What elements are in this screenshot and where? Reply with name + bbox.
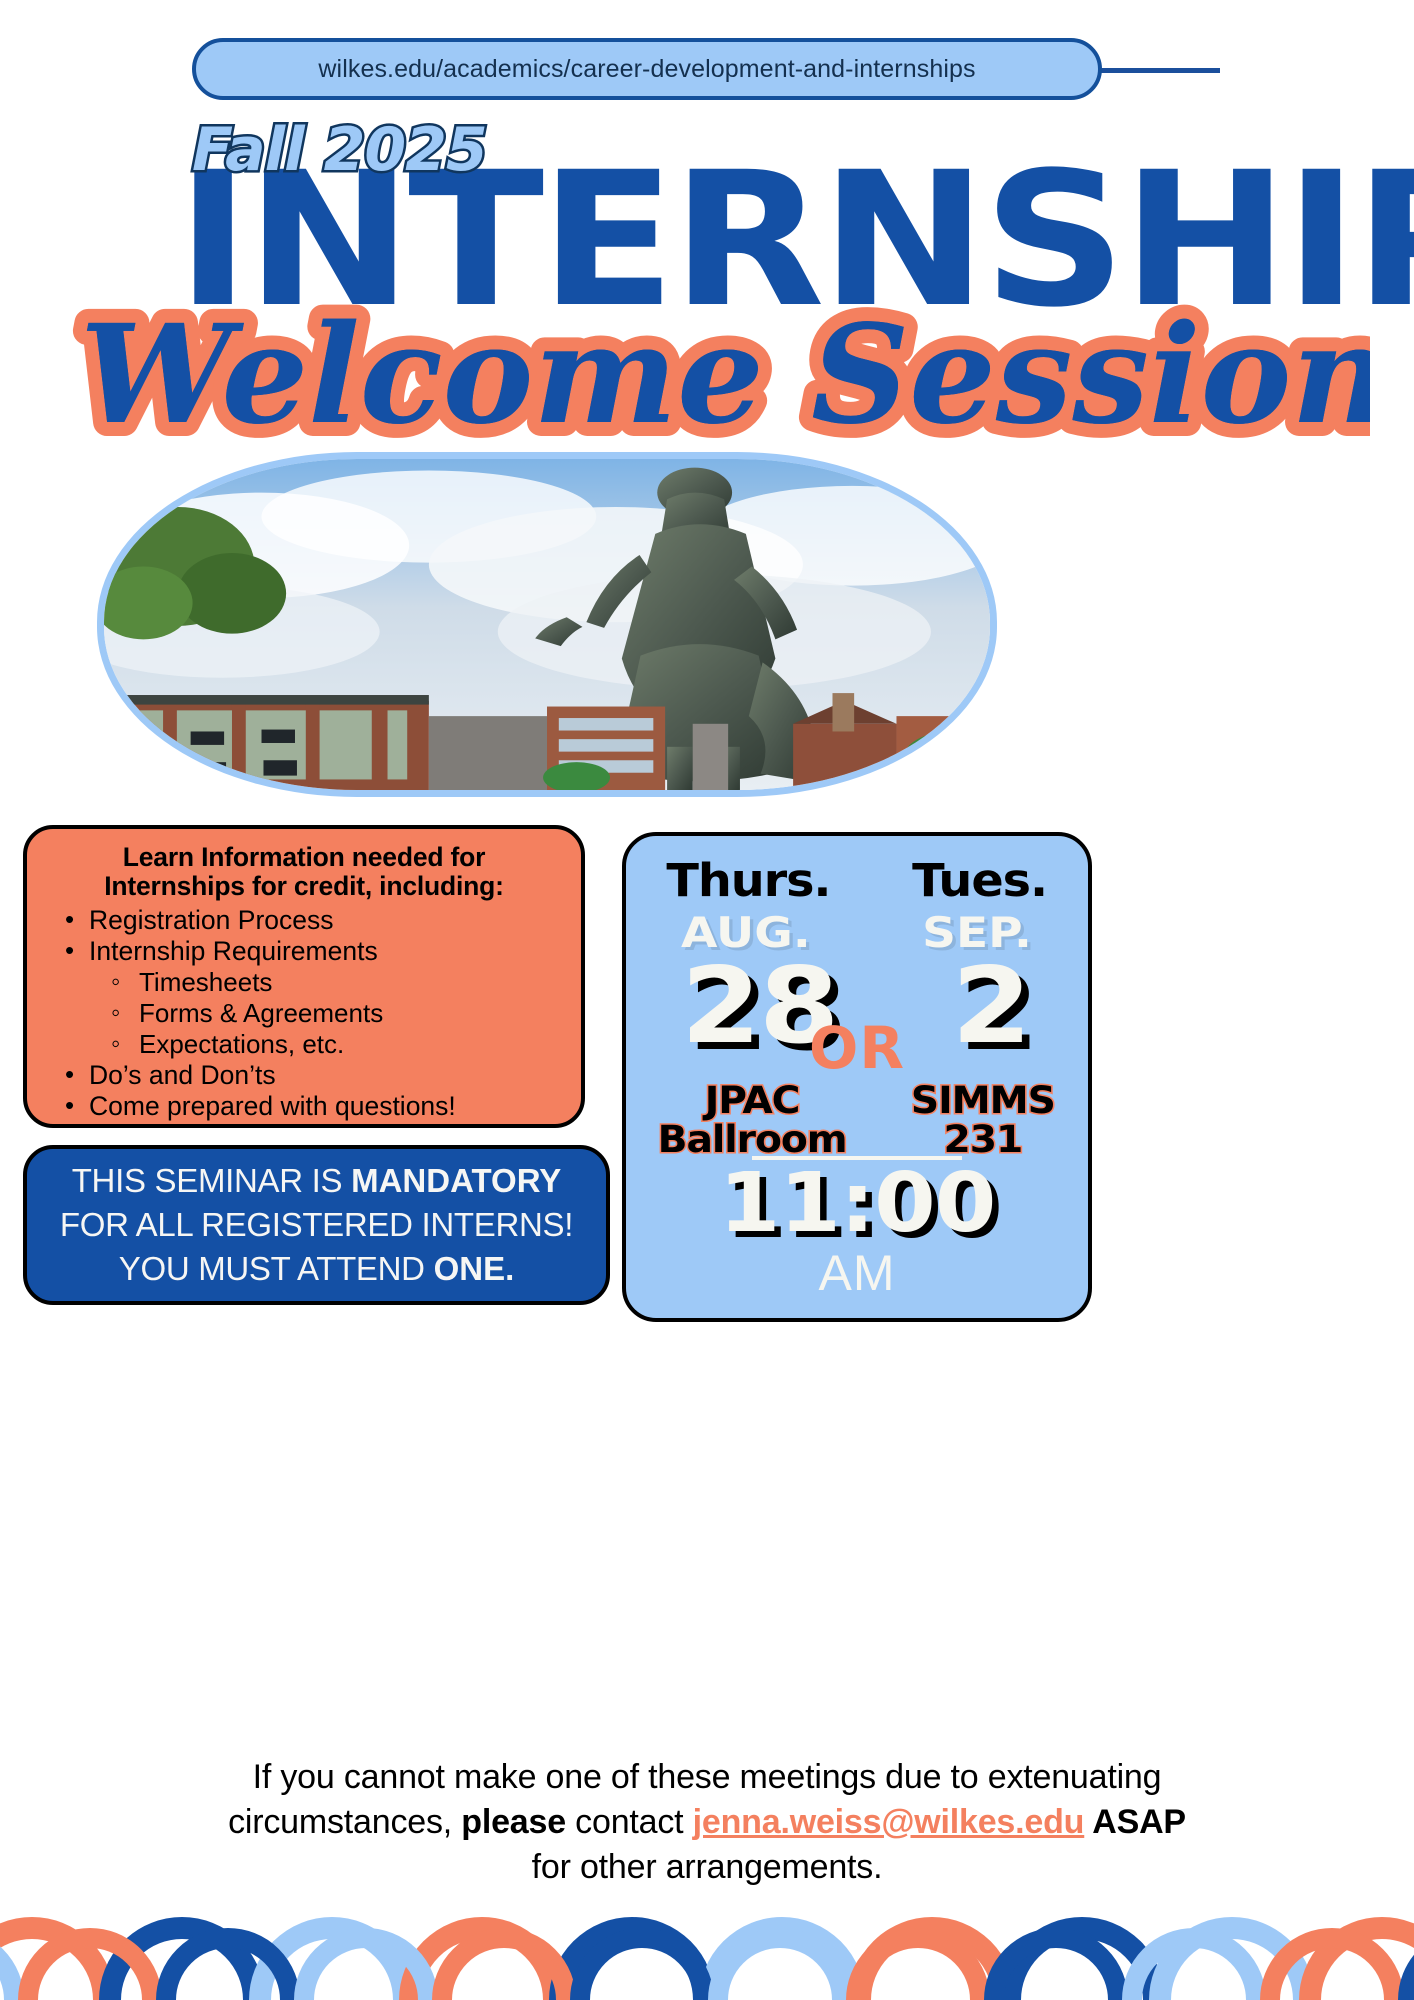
info-box-title: Learn Information needed for Internships… bbox=[43, 843, 565, 901]
location-session-2-line1: SIMMS bbox=[911, 1081, 1055, 1120]
info-list-item: Expectations, etc. bbox=[43, 1029, 565, 1060]
contact-email-link[interactable]: jenna.weiss@wilkes.edu bbox=[693, 1803, 1085, 1841]
footer-line-2-prefix: circumstances, bbox=[228, 1803, 461, 1841]
mandatory-line-3: YOU MUST ATTEND ONE. bbox=[119, 1247, 515, 1291]
weekday-session-1: Thurs. bbox=[666, 854, 830, 907]
info-list-item: Do’s and Don’ts bbox=[43, 1060, 565, 1091]
url-pill[interactable]: wilkes.edu/academics/career-development-… bbox=[192, 38, 1102, 100]
info-box-title-line2: Internships for credit, including: bbox=[43, 872, 565, 901]
svg-text:Welcome Session: Welcome Session bbox=[80, 295, 1370, 455]
weekday-session-2: Tues. bbox=[912, 854, 1047, 907]
day-session-2: 2 bbox=[951, 954, 1029, 1059]
info-list-item: Forms & Agreements bbox=[43, 998, 565, 1029]
location-session-2-line2: 231 bbox=[911, 1120, 1055, 1159]
mandatory-line-1: THIS SEMINAR IS MANDATORY bbox=[72, 1159, 562, 1203]
dates-panel: Thurs. Tues. AUG. SEP. 28 2 OR JPAC Ball… bbox=[622, 832, 1092, 1322]
location-session-1: JPAC Ballroom bbox=[658, 1081, 847, 1159]
attend-one-word: ONE. bbox=[434, 1250, 515, 1287]
location-session-1-line2: Ballroom bbox=[658, 1120, 847, 1159]
campus-photo bbox=[97, 452, 997, 797]
term-label: Fall 2025 bbox=[192, 115, 487, 185]
info-box: Learn Information needed for Internships… bbox=[23, 825, 585, 1128]
location-session-1-line1: JPAC bbox=[658, 1081, 847, 1120]
info-list-item: Come prepared with questions! bbox=[43, 1091, 565, 1122]
mandatory-line-2: FOR ALL REGISTERED INTERNS! bbox=[60, 1203, 573, 1247]
or-conjunction: OR bbox=[809, 1014, 905, 1082]
info-list-item: Internship Requirements bbox=[43, 936, 565, 967]
mandatory-box: THIS SEMINAR IS MANDATORY FOR ALL REGIST… bbox=[23, 1145, 610, 1305]
info-list-item: Timesheets bbox=[43, 967, 565, 998]
time-value: 11:00 bbox=[719, 1162, 995, 1246]
poster-canvas: wilkes.edu/academics/career-development-… bbox=[0, 0, 1414, 2000]
info-list-item: Registration Process bbox=[43, 905, 565, 936]
time-period: AM bbox=[626, 1246, 1088, 1300]
mandatory-line-1-prefix: THIS SEMINAR IS bbox=[72, 1162, 351, 1199]
weekday-row: Thurs. Tues. bbox=[626, 854, 1088, 907]
footer-contact-word: contact bbox=[566, 1803, 693, 1841]
url-text: wilkes.edu/academics/career-development-… bbox=[318, 55, 975, 84]
mandatory-word: MANDATORY bbox=[351, 1162, 561, 1199]
footer-please-word: please bbox=[461, 1803, 566, 1841]
footer-asap-word: ASAP bbox=[1084, 1803, 1186, 1841]
location-row: JPAC Ballroom SIMMS 231 bbox=[626, 1081, 1088, 1159]
arch-border-decoration bbox=[0, 1860, 1414, 2000]
mandatory-line-3-prefix: YOU MUST ATTEND bbox=[119, 1250, 434, 1287]
headline-script-welcome-session: Welcome Session Welcome Session bbox=[70, 290, 1370, 470]
footer-line-1: If you cannot make one of these meetings… bbox=[0, 1755, 1414, 1800]
info-box-title-line1: Learn Information needed for bbox=[43, 843, 565, 872]
footer-line-2: circumstances, please contact jenna.weis… bbox=[0, 1800, 1414, 1845]
time-block: 11:00 AM bbox=[626, 1156, 1088, 1300]
location-session-2: SIMMS 231 bbox=[911, 1081, 1055, 1159]
info-box-list: Registration ProcessInternship Requireme… bbox=[43, 905, 565, 1122]
